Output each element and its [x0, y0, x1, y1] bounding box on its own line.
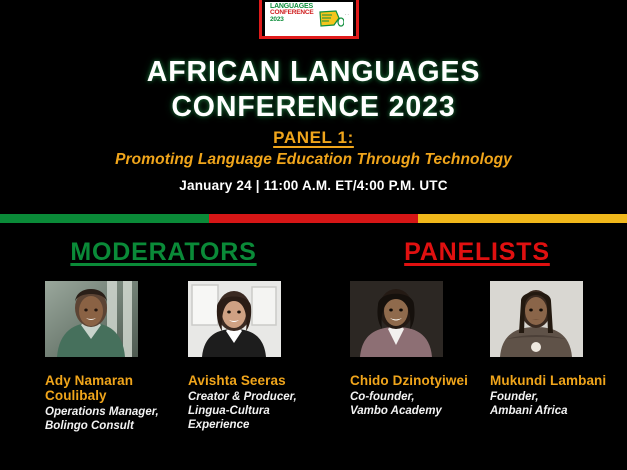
speaker-photo	[188, 281, 281, 357]
title-line-1: AFRICAN LANGUAGES	[0, 55, 627, 90]
divider-segment-yellow	[418, 214, 627, 223]
portrait-ady-namaran-coulibaly-icon	[45, 281, 138, 357]
tricolor-divider	[0, 214, 627, 223]
divider-segment-red	[209, 214, 418, 223]
speaker-role: Creator & Producer, Lingua-Cultura Exper…	[188, 390, 316, 432]
logo-dots: ..	[345, 11, 350, 17]
conference-logo: LANGUAGES CONFERENCE 2023 ..	[259, 0, 359, 39]
speaker-role: Co-founder, Vambo Academy	[350, 390, 478, 418]
logo-line-year: 2023	[270, 17, 314, 24]
title-line-2: CONFERENCE 2023	[0, 90, 627, 125]
speaker-name: Ady Namaran Coulibaly	[45, 373, 173, 403]
speaker-role: Operations Manager, Bolingo Consult	[45, 405, 173, 433]
portrait-mukundi-lambani-icon	[490, 281, 583, 357]
panel-topic: Promoting Language Education Through Tec…	[0, 151, 627, 169]
conference-poster: LANGUAGES CONFERENCE 2023 .. AFRICAN LAN…	[0, 0, 627, 470]
speaker-name: Chido Dzinotyiwei	[350, 373, 478, 388]
panel-datetime: January 24 | 11:00 A.M. ET/4:00 P.M. UTC	[0, 178, 627, 193]
speaker-photo	[350, 281, 443, 357]
speaker-card-moderator-1: Ady Namaran Coulibaly Operations Manager…	[38, 281, 178, 433]
speaker-card-panelist-2: Mukundi Lambani Founder, Ambani Africa	[483, 281, 623, 418]
speaker-card-panelist-1: Chido Dzinotyiwei Co-founder, Vambo Acad…	[343, 281, 483, 418]
logo-card: LANGUAGES CONFERENCE 2023 ..	[265, 2, 353, 36]
divider-segment-green	[0, 214, 209, 223]
speaker-photo	[490, 281, 583, 357]
section-heading-panelists: PANELISTS	[327, 238, 627, 267]
speaker-photo	[45, 281, 138, 357]
speakers-grid: Ady Namaran Coulibaly Operations Manager…	[0, 281, 627, 470]
portrait-avishta-seeras-icon	[188, 281, 281, 357]
speaker-card-moderator-2: Avishta Seeras Creator & Producer, Lingu…	[181, 281, 321, 432]
speech-bubble-icon	[318, 9, 344, 29]
speaker-name: Mukundi Lambani	[490, 373, 618, 388]
speaker-role: Founder, Ambani Africa	[490, 390, 618, 418]
speaker-name: Avishta Seeras	[188, 373, 316, 388]
portrait-chido-dzinotyiwei-icon	[350, 281, 443, 357]
section-heading-moderators: MODERATORS	[0, 238, 327, 267]
panel-number-label: PANEL 1:	[0, 128, 627, 148]
page-title: AFRICAN LANGUAGES CONFERENCE 2023	[0, 55, 627, 125]
logo-wordmark: LANGUAGES CONFERENCE 2023	[270, 3, 314, 23]
